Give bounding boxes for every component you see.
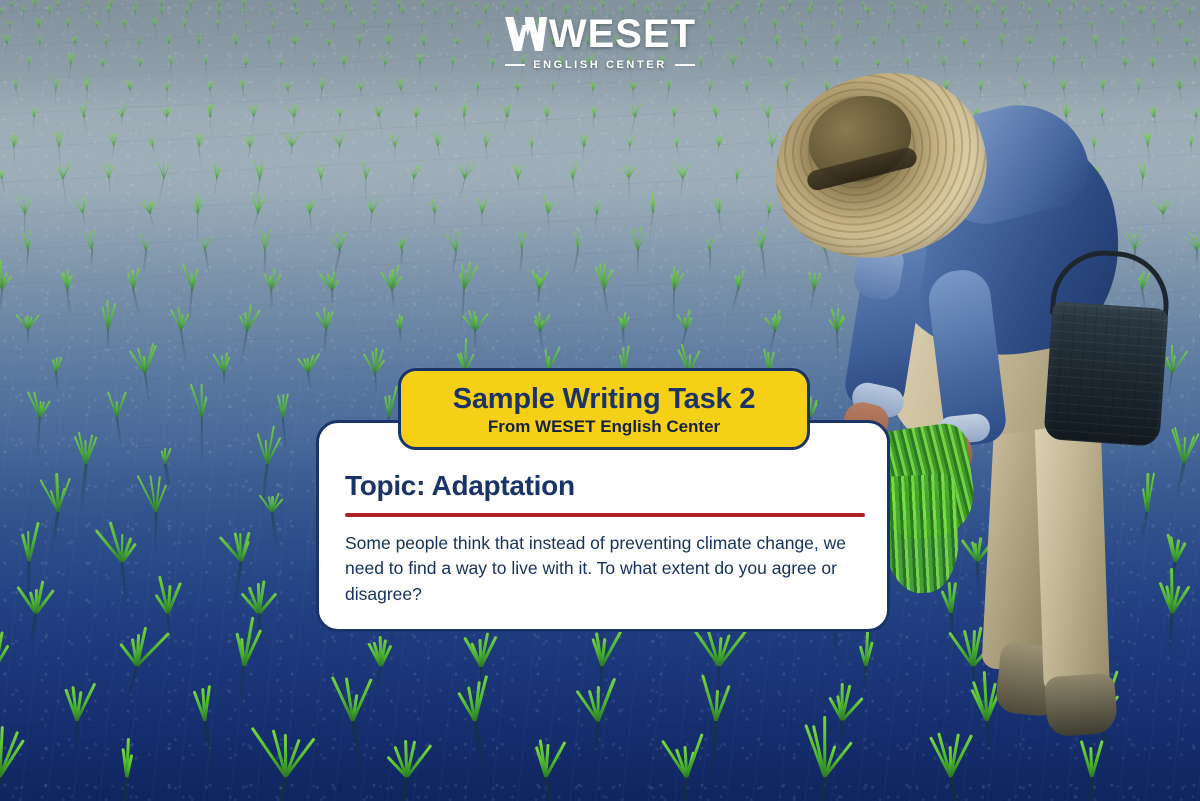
rice-seedling <box>715 193 722 213</box>
rice-seedling <box>87 231 96 251</box>
rice-seedling <box>294 7 297 12</box>
rice-seedling <box>1100 0 1104 6</box>
rice-seedling <box>31 106 36 117</box>
rice-seedling <box>1028 7 1031 13</box>
rice-seedling <box>0 6 2 13</box>
rice-seedling <box>369 195 376 213</box>
rice-seedling <box>194 194 201 214</box>
rice-seedling <box>22 191 29 213</box>
rice-seedling <box>336 225 343 250</box>
rice-seedling <box>348 7 351 13</box>
rice-seedling <box>707 0 710 6</box>
rice-seedling <box>479 193 486 213</box>
rice-seedling <box>196 130 202 146</box>
rice-seedling <box>397 730 416 777</box>
rice-seedling <box>411 163 418 179</box>
rice-seedling <box>129 619 147 667</box>
rice-seedling <box>278 393 289 418</box>
rice-seedling <box>594 198 601 213</box>
rice-seedling <box>600 262 608 289</box>
rice-seedling <box>48 5 51 13</box>
rice-seedling <box>252 101 257 117</box>
rice-seedling <box>657 0 660 6</box>
rice-seedling <box>1046 0 1050 6</box>
rice-seedling <box>285 80 290 89</box>
rice-seedling <box>21 523 35 561</box>
rice-seedling <box>324 7 327 13</box>
basket-weave-texture <box>1043 301 1168 447</box>
rice-seedling <box>118 738 137 777</box>
rice-seedling <box>60 160 67 179</box>
rice-seedling <box>196 383 207 417</box>
rice-seedling <box>676 731 696 777</box>
rice-seedling <box>591 80 595 90</box>
rice-seedling <box>320 76 324 90</box>
title-divider <box>345 513 865 517</box>
rice-seedling <box>483 129 489 147</box>
rice-seedling <box>86 0 89 6</box>
rice-seedling <box>165 105 170 116</box>
rice-seedling <box>397 233 405 250</box>
rice-seedling <box>1139 5 1142 13</box>
rice-seedling <box>708 81 712 89</box>
rice-seedling <box>840 6 843 13</box>
rice-seedling <box>633 102 638 117</box>
rice-seedling <box>84 76 89 90</box>
rice-seedling <box>111 129 116 146</box>
rice-seedling <box>866 5 870 13</box>
rice-seedling <box>578 0 581 6</box>
rice-seedling <box>302 351 312 373</box>
rice-seedling <box>391 133 397 147</box>
rice-seedling <box>582 132 587 147</box>
rice-seedling <box>545 194 552 213</box>
rice-seedling <box>551 81 555 89</box>
rice-seedling <box>435 130 440 146</box>
rice-seedling <box>51 352 62 373</box>
rice-seedling <box>735 0 738 6</box>
topic-question-text: Some people think that instead of preven… <box>345 531 875 607</box>
rice-seedling <box>165 81 169 90</box>
tagline-dash-left <box>505 64 525 66</box>
rice-seedling <box>1001 5 1004 13</box>
rice-seedling <box>602 0 605 6</box>
rice-seedling <box>146 196 154 214</box>
rice-seedling <box>414 105 419 116</box>
rice-seedling <box>240 78 245 89</box>
rice-seedling <box>266 483 279 512</box>
rice-seedling <box>536 738 554 777</box>
rice-seedling <box>781 6 784 13</box>
rice-seedling <box>69 681 87 721</box>
rice-seedling <box>149 136 155 147</box>
rice-seedling <box>529 134 534 147</box>
rice-seedling <box>1085 7 1088 13</box>
rice-seedling <box>326 268 335 289</box>
rice-seedling <box>627 135 632 147</box>
rice-seedling <box>518 226 526 251</box>
rice-seedling <box>516 79 521 90</box>
rice-seedling <box>289 129 295 147</box>
rice-seedling <box>345 673 362 721</box>
rice-seedling <box>1020 0 1023 6</box>
rice-seedling <box>401 6 404 13</box>
rice-seedling <box>991 0 994 6</box>
rice-seedling <box>594 628 609 666</box>
rice-seedling <box>1150 1 1153 6</box>
rice-seedling <box>189 0 192 6</box>
rice-seedling <box>590 664 607 721</box>
rice-seedling <box>502 0 505 6</box>
rice-seedling <box>132 5 135 13</box>
rice-seedling <box>706 232 713 250</box>
rice-seedling <box>680 160 686 179</box>
rice-seedling <box>0 622 3 666</box>
rice-seedling <box>462 160 469 179</box>
rice-seedling <box>318 162 324 179</box>
weset-w-monogram-icon <box>504 16 548 52</box>
rice-seedling <box>1072 0 1075 6</box>
rice-seedling <box>54 76 59 89</box>
rice-seedling <box>472 631 488 666</box>
rice-seedling <box>142 233 149 250</box>
rice-seedling <box>271 6 274 13</box>
rice-seedling <box>372 635 388 667</box>
rice-seedling <box>388 263 397 290</box>
rice-seedling <box>682 309 691 329</box>
rice-seedling <box>81 101 86 117</box>
rice-seedling <box>0 261 6 289</box>
rice-seedling <box>128 80 132 89</box>
rice-seedling <box>626 162 633 179</box>
topic-card-body: Topic: Adaptation Some people think that… <box>319 423 887 629</box>
topic-title: Topic: Adaptation <box>345 471 857 502</box>
rice-seedling <box>261 228 269 251</box>
rice-seedling <box>214 161 221 179</box>
rice-seedling <box>734 268 743 289</box>
rice-seedling <box>216 5 219 13</box>
rice-seedling <box>673 135 679 147</box>
rice-seedling <box>714 102 719 116</box>
rice-seedling <box>208 81 212 90</box>
rice-seedling <box>24 311 33 330</box>
rice-seedling <box>276 718 294 777</box>
rice-seedling <box>649 191 657 213</box>
rice-seedling <box>56 131 62 147</box>
sample-task-banner: Sample Writing Task 2 From WESET English… <box>398 368 810 450</box>
rice-seedling <box>359 81 363 90</box>
rice-seedling <box>0 166 5 179</box>
rice-seedling <box>159 6 162 13</box>
rice-seedling <box>716 134 722 146</box>
rice-seedling <box>452 230 459 251</box>
rice-seedling <box>734 166 741 179</box>
rice-seedling <box>128 266 136 289</box>
rice-seedling <box>570 161 576 179</box>
rice-seedling <box>373 6 376 13</box>
rice-seedling <box>150 472 163 512</box>
banner-subtitle: From WESET English Center <box>488 418 720 436</box>
rice-seedling <box>268 1 271 6</box>
rice-seedling <box>236 617 252 666</box>
rice-seedling <box>470 309 480 330</box>
rice-seedling <box>633 226 641 250</box>
rice-seedling <box>33 0 36 6</box>
rice-seedling <box>261 425 274 464</box>
rice-seedling <box>159 441 171 464</box>
rice-seedling <box>536 311 546 330</box>
rice-seedling <box>321 0 324 6</box>
rice-seedling <box>160 158 166 179</box>
rice-seedling <box>944 0 947 6</box>
rice-seedling <box>50 474 64 512</box>
rice-seedling <box>56 0 59 6</box>
rice-seedling <box>35 389 47 418</box>
rice-seedling <box>29 573 44 613</box>
poster-canvas: WESET ENGLISH CENTER Topic: Adaptation S… <box>0 0 1200 801</box>
farmer-figure <box>760 55 1200 755</box>
rice-seedling <box>396 312 405 330</box>
rice-seedling <box>293 0 297 6</box>
rice-seedling <box>370 348 381 373</box>
rice-seedling <box>967 0 970 6</box>
rice-seedling <box>891 4 894 13</box>
rice-seedling <box>703 5 706 13</box>
rice-seedling <box>708 668 727 721</box>
rice-seedling <box>473 1 476 6</box>
rice-seedling <box>338 107 343 116</box>
rice-seedling <box>115 520 129 562</box>
rice-seedling <box>632 0 635 6</box>
rice-seedling <box>0 724 11 778</box>
rice-seedling <box>22 4 25 13</box>
rice-seedling <box>476 79 480 89</box>
rice-seedling <box>306 195 313 214</box>
rice-seedling <box>1058 6 1061 13</box>
rice-seedling <box>344 0 347 6</box>
logo-tagline-row: ENGLISH CENTER <box>505 59 695 71</box>
farmer-boot-front <box>1044 673 1118 738</box>
rice-seedling <box>292 103 297 117</box>
rice-seedling-bundle-lower <box>881 473 961 595</box>
topic-card: Topic: Adaptation Some people think that… <box>316 420 890 632</box>
rice-seedling <box>466 665 484 721</box>
tagline-dash-right <box>675 64 695 66</box>
rice-seedling <box>377 102 382 116</box>
rice-seedling <box>234 530 248 562</box>
rice-seedling <box>336 129 342 146</box>
rice-seedling <box>243 302 252 330</box>
rice-seedling <box>185 5 188 13</box>
rice-seedling <box>251 572 266 614</box>
rice-seedling <box>759 0 762 6</box>
rice-seedling <box>525 0 528 6</box>
rice-seedling <box>505 104 510 117</box>
rice-seedling <box>1165 6 1168 13</box>
rice-seedling <box>79 429 91 463</box>
rice-seedling <box>363 159 369 179</box>
rice-seedling <box>788 0 792 6</box>
rice-seedling <box>79 195 86 213</box>
rice-seedling <box>421 0 424 6</box>
rice-seedling <box>861 0 864 6</box>
rice-seedling <box>683 0 686 6</box>
rice-seedling <box>138 342 150 373</box>
rice-seedling <box>545 106 550 117</box>
logo-wordmark: WESET <box>504 14 696 54</box>
logo-tagline-text: ENGLISH CENTER <box>533 59 667 71</box>
rice-seedling <box>1188 6 1191 13</box>
rice-seedling <box>9 0 12 6</box>
rice-seedling <box>460 261 469 289</box>
rice-seedling <box>1174 0 1177 6</box>
rice-seedling <box>550 0 553 6</box>
rice-seedling <box>484 4 487 13</box>
rice-seedling <box>948 4 951 13</box>
rice-seedling <box>433 7 436 13</box>
rice-seedling <box>592 105 597 117</box>
rice-seedling <box>218 350 228 372</box>
rice-seedling <box>515 163 521 179</box>
rice-seedling <box>194 677 213 722</box>
rice-seedling <box>105 159 111 179</box>
rice-seedling <box>667 78 672 90</box>
rice-seedling <box>247 134 252 147</box>
rice-seedling <box>257 158 263 178</box>
rice-seedling <box>267 267 276 290</box>
rice-seedling <box>120 100 125 116</box>
rice-seedling <box>922 5 925 13</box>
rice-seedling <box>808 6 811 13</box>
rice-seedling <box>434 81 439 90</box>
rice-seedling <box>619 311 628 330</box>
rice-seedling <box>106 4 109 13</box>
rice-seedling <box>11 134 17 147</box>
rice-seedling <box>462 103 467 117</box>
rice-seedling <box>188 261 197 289</box>
rice-seedling <box>176 303 185 330</box>
rice-seedling <box>431 198 439 213</box>
rice-seedling <box>208 103 213 117</box>
rice-seedling <box>111 390 122 417</box>
rice-seedling <box>255 192 263 214</box>
rice-seedling <box>672 105 677 116</box>
rice-seedling <box>1123 0 1126 6</box>
rice-seedling <box>23 230 31 250</box>
rice-seedling <box>1110 7 1113 13</box>
banner-title: Sample Writing Task 2 <box>453 384 756 414</box>
rice-seedling <box>103 300 112 330</box>
rice-seedling <box>384 381 395 418</box>
rice-seedling <box>670 265 680 290</box>
rice-seedling <box>201 232 209 250</box>
rice-seedling <box>915 1 918 6</box>
rice-seedling <box>399 76 404 89</box>
rice-seedling <box>729 4 732 13</box>
rice-seedling <box>757 7 760 13</box>
rice-seedling <box>322 304 331 329</box>
rice-seedling <box>242 5 245 13</box>
rice-seedling <box>397 0 400 6</box>
rice-seedling <box>450 0 453 6</box>
brand-logo: WESET ENGLISH CENTER <box>0 14 1200 71</box>
rice-seedling <box>574 227 581 250</box>
rice-seedling <box>515 4 518 13</box>
rice-seedling <box>13 76 18 89</box>
rice-seedling <box>63 267 71 289</box>
rice-seedling <box>631 77 636 89</box>
rice-seedling <box>535 269 543 289</box>
logo-wordmark-text: WESET <box>549 14 696 54</box>
rice-seedling <box>159 575 175 613</box>
rice-seedling <box>456 8 459 13</box>
rice-seedling <box>80 8 83 13</box>
rice-seedling <box>540 4 544 13</box>
rice-seedling <box>745 80 749 90</box>
rice-seedling <box>975 5 978 13</box>
